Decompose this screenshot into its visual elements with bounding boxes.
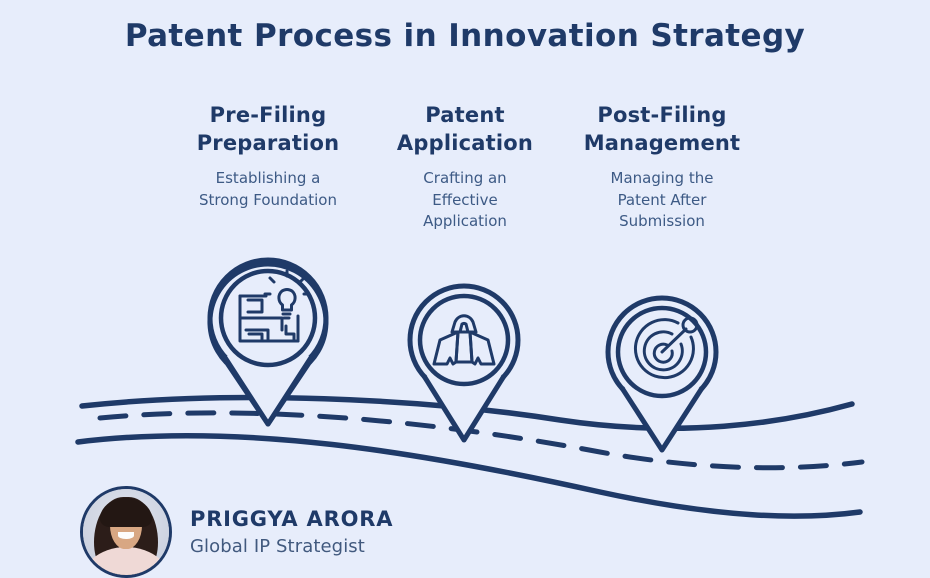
- avatar-smile: [118, 532, 133, 539]
- presenter-role: Global IP Strategist: [190, 536, 393, 559]
- presenter-text: PRIGGYA ARORA Global IP Strategist: [190, 506, 393, 559]
- presenter-block: PRIGGYA ARORA Global IP Strategist: [80, 486, 393, 578]
- road-center-dashes: [100, 413, 862, 468]
- map-pin-patent-application[interactable]: [410, 286, 518, 440]
- infographic-canvas: Patent Process in Innovation Strategy Pr…: [0, 0, 930, 578]
- pin-ring-inner: [420, 296, 508, 384]
- presenter-name: PRIGGYA ARORA: [190, 506, 393, 532]
- avatar: [80, 486, 172, 578]
